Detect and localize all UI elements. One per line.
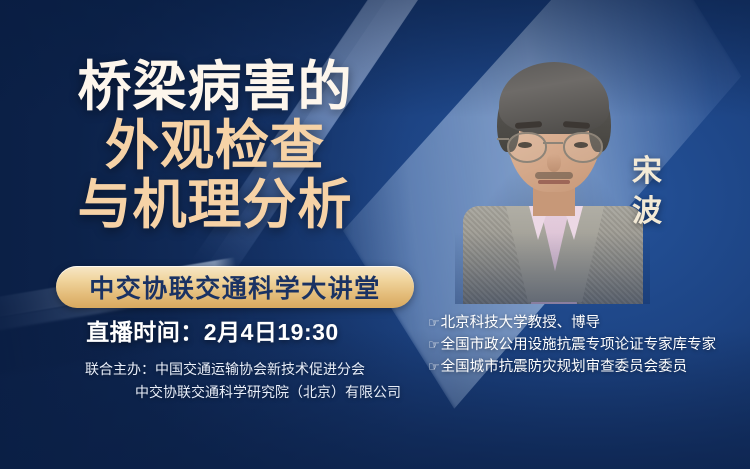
series-banner-label: 中交协联交通科学大讲堂 (89, 269, 381, 305)
credential-text-1: 北京科技大学教授、博导 (441, 312, 601, 334)
live-time: 直播时间：2月4日19:30 (0, 313, 425, 347)
speaker-name: 宋 波 (632, 152, 663, 232)
credential-text-3: 全国城市抗震防灾规划审查委员会委员 (441, 356, 688, 378)
poster-title: 桥梁病害的 外观检查 与机理分析 (0, 58, 430, 235)
organiser-line-1: 联合主办：中国交通运输协会新技术促进分会 (0, 358, 450, 381)
pointing-hand-icon: ☞ (428, 313, 440, 333)
pointing-hand-icon: ☞ (428, 335, 440, 355)
credential-row: ☞ 全国城市抗震防灾规划审查委员会委员 (428, 356, 748, 378)
webinar-poster: 桥梁病害的 外观检查 与机理分析 中交协联交通科学大讲堂 直播时间：2月4日19… (0, 0, 750, 469)
speaker-credentials: ☞ 北京科技大学教授、博导 ☞ 全国市政公用设施抗震专项论证专家库专家 ☞ 全国… (428, 312, 748, 378)
credential-row: ☞ 全国市政公用设施抗震专项论证专家库专家 (428, 334, 748, 356)
speaker-portrait (455, 48, 650, 304)
credential-row: ☞ 北京科技大学教授、博导 (428, 312, 748, 334)
speaker-name-char-2: 波 (632, 192, 663, 232)
organiser-line-2: 中交协联交通科学研究院（北京）有限公司 (0, 381, 450, 404)
pointing-hand-icon: ☞ (428, 357, 440, 377)
portrait-bottom-fade (455, 48, 650, 304)
credential-text-2: 全国市政公用设施抗震专项论证专家库专家 (441, 334, 717, 356)
series-banner: 中交协联交通科学大讲堂 (56, 266, 414, 308)
speaker-name-char-1: 宋 (632, 152, 663, 192)
organisers: 联合主办：中国交通运输协会新技术促进分会 中交协联交通科学研究院（北京）有限公司 (0, 358, 450, 403)
title-line-2: 外观检查 (0, 117, 430, 176)
title-line-3: 与机理分析 (0, 176, 430, 235)
title-line-1: 桥梁病害的 (0, 58, 430, 117)
